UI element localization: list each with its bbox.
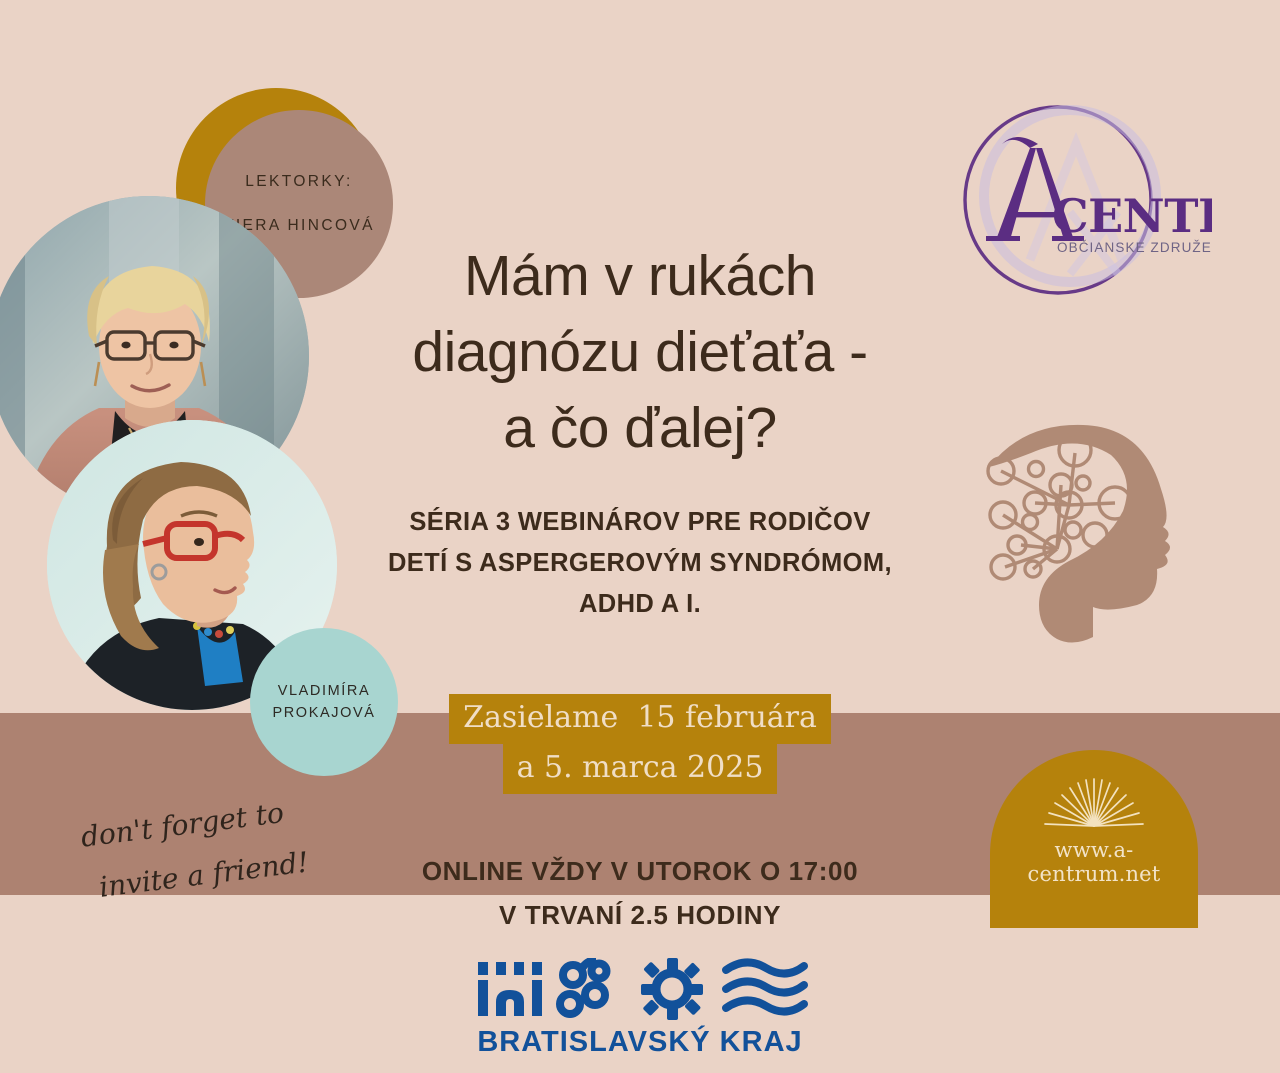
waves-icon [726,962,804,1011]
partner-logo-title: BRATISLAVSKÝ KRAJ [470,1026,810,1059]
schedule-info: ONLINE VŽDY V UTOROK O 17:00 V TRVANÍ 2.… [330,849,950,937]
bratislavsky-kraj-logo: BRATISLAVSKÝ KRAJ [470,958,810,1058]
website-url[interactable]: www.a-centrum.net [990,838,1198,886]
subhead-line-2: DETÍ S ASPERGEROVÝM SYNDRÓMOM, [330,543,950,584]
date-line-1: Zasielame 15 februára [449,694,831,744]
sun-icon [641,958,703,1020]
logo-wordmark-text: CENTRUM [1052,189,1212,243]
poster-canvas: LEKTORKY: VIERA HINCOVÁ [0,0,1280,1073]
castle-gate-icon [478,962,542,1016]
headline-line-2: diagnózu dieťaťa - [340,314,940,390]
date-line-2: a 5. marca 2025 [503,744,778,794]
subhead-line-1: SÉRIA 3 WEBINÁROV PRE RODIČOV [330,502,950,543]
sunburst-icon [1039,776,1149,828]
poster-headline: Mám v rukách diagnózu dieťaťa - a čo ďal… [340,238,940,466]
subhead-line-3: ADHD A I. [330,584,950,625]
a-centrum-logo: CENTRUM OBČIANSKE ZDRUŽENIE [952,100,1212,300]
schedule-line-1: ONLINE VŽDY V UTOROK O 17:00 [330,849,950,893]
dates-banner: Zasielame 15 februára a 5. marca 2025 [330,694,950,794]
logo-tagline-text: OBČIANSKE ZDRUŽENIE [1057,240,1212,255]
lecturers-label: LEKTORKY: [245,173,352,191]
headline-line-1: Mám v rukách [340,238,940,314]
headline-line-3: a čo ďalej? [340,390,940,466]
schedule-line-2: V TRVANÍ 2.5 HODINY [330,893,950,937]
head-network-icon [965,415,1200,650]
grapes-icon [560,960,607,1014]
poster-subhead: SÉRIA 3 WEBINÁROV PRE RODIČOV DETÍ S ASP… [330,502,950,625]
